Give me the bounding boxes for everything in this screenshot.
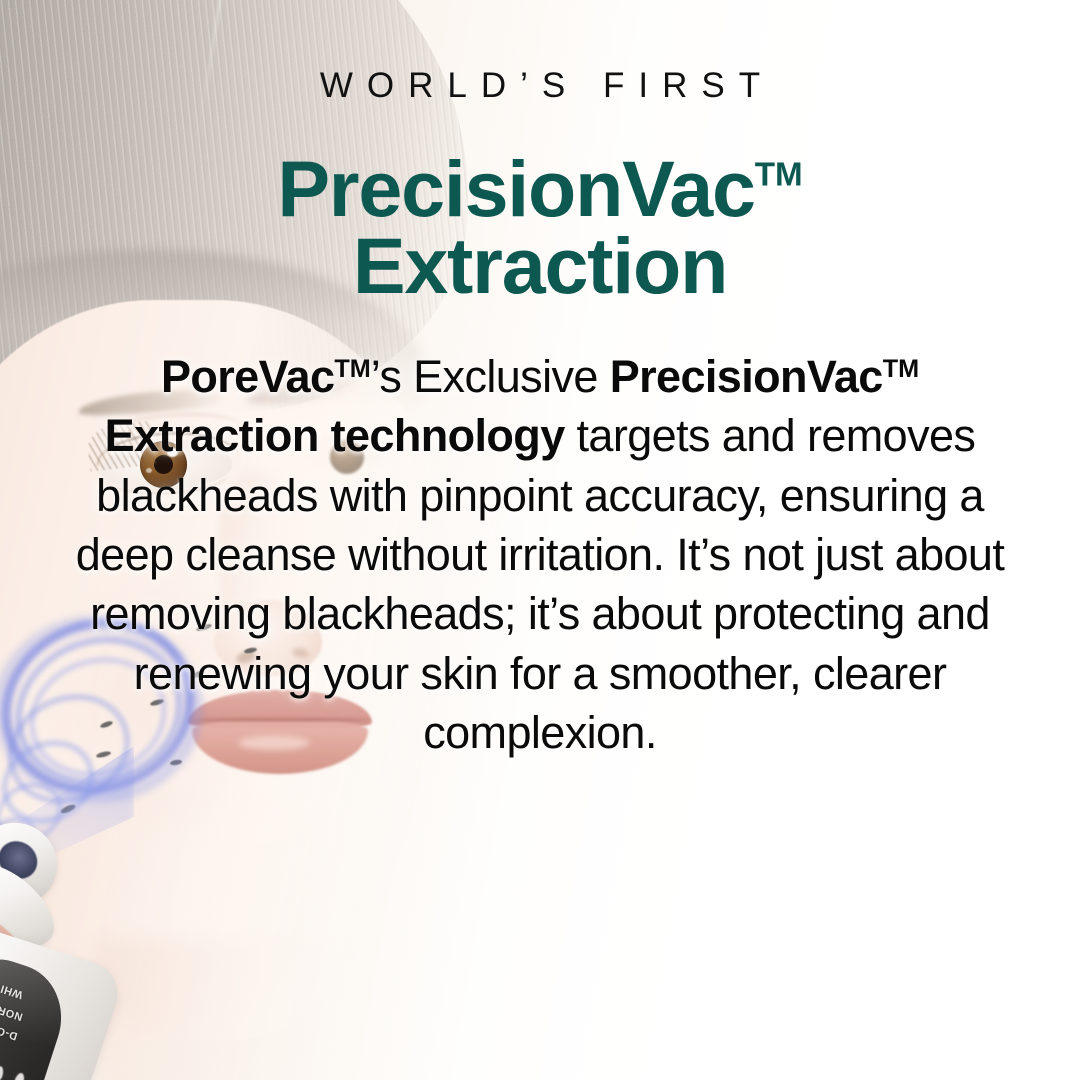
body-technology-phrase: Extraction technology (105, 410, 565, 461)
headline-line-2: Extraction (353, 221, 727, 310)
text-content: WORLD’S FIRST PrecisionVacTM Extraction … (0, 0, 1080, 1080)
trademark-symbol: TM (883, 355, 919, 383)
body-brand-porevac: PoreVac (161, 351, 334, 402)
trademark-symbol: TM (334, 355, 370, 383)
headline-product-name: PrecisionVac (277, 144, 754, 233)
body-segment-possessive: ’s Exclusive (371, 351, 610, 402)
promo-canvas: D-CLEAN NORMAL WHITE WORLD’S FIRST Preci… (0, 0, 1080, 1080)
headline: PrecisionVacTM Extraction (58, 150, 1022, 305)
kicker-text: WORLD’S FIRST (58, 66, 1022, 106)
headline-line-1: PrecisionVacTM (277, 144, 802, 233)
trademark-symbol: TM (755, 156, 803, 193)
body-paragraph: PoreVacTM’s Exclusive PrecisionVacTM Ext… (58, 347, 1022, 763)
body-brand-precisionvac: PrecisionVac (610, 351, 883, 402)
body-description: targets and removes blackheads with pinp… (76, 410, 1005, 758)
